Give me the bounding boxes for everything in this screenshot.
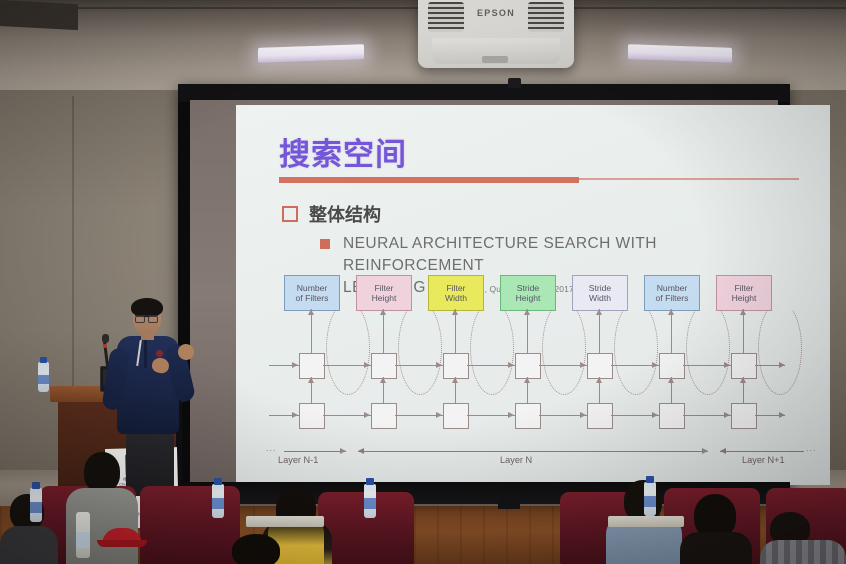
feedback-loop-arrow: [686, 301, 730, 395]
param-box-line2: Width: [445, 293, 467, 303]
ceiling-beam-left: [0, 0, 78, 30]
presenter-shirt-placket: [144, 338, 147, 368]
rnn-controller-diagram: Numberof FiltersFilterHeightFilterWidthS…: [262, 275, 810, 465]
microphone-indicator-led: [103, 344, 107, 348]
attendee-body: [760, 540, 846, 564]
bullet-level1: 整体结构: [282, 201, 381, 227]
presenter-glasses: [135, 315, 158, 321]
arrow-up-icon: [380, 309, 386, 315]
connector-line: [527, 309, 528, 353]
param-box: FilterHeight: [716, 275, 772, 311]
arrow-up-icon: [668, 309, 674, 315]
bottle-label: [30, 502, 42, 513]
arrow-up-icon: [740, 377, 746, 383]
param-box-line1: Filter: [374, 283, 393, 293]
list-item: [92, 528, 154, 564]
rnn-cell: [587, 353, 613, 379]
rnn-cell: [371, 353, 397, 379]
param-box-line1: Filter: [734, 283, 753, 293]
layer-label: Layer N: [500, 455, 532, 465]
connector-line: [455, 309, 456, 353]
connector-line: [743, 309, 744, 353]
param-box-line2: Width: [589, 293, 611, 303]
arrow-up-icon: [524, 377, 530, 383]
attendee-red-cap: [102, 528, 142, 547]
title-accent-bar: [279, 177, 579, 183]
arrow-up-icon: [740, 309, 746, 315]
arrow-up-icon: [308, 309, 314, 315]
arrow-up-icon: [596, 377, 602, 383]
bottle-cap: [646, 476, 654, 483]
param-box: StrideWidth: [572, 275, 628, 311]
rnn-cell: [443, 403, 469, 429]
paper-title-line1: NEURAL ARCHITECTURE SEARCH WITH REINFORC…: [343, 235, 657, 274]
attendee-body: [0, 526, 58, 564]
arrow-right-icon: [508, 412, 514, 418]
param-box-line1: Number: [657, 283, 688, 293]
layer-span-line: [720, 451, 804, 452]
arrow-up-icon: [596, 309, 602, 315]
layer-span-line: [358, 451, 708, 452]
rnn-cell: [731, 403, 757, 429]
rnn-cell: [659, 353, 685, 379]
feedback-loop-arrow: [542, 301, 586, 395]
arrow-right-icon: [779, 412, 785, 418]
rnn-cell: [443, 353, 469, 379]
connector-line: [311, 309, 312, 353]
desk-tray: [246, 516, 324, 527]
param-box-line2: of Filters: [656, 293, 689, 303]
layer-label: Layer N-1: [278, 455, 318, 465]
arrow-up-icon: [308, 377, 314, 383]
rnn-cell: [515, 353, 541, 379]
water-bottle: [644, 482, 656, 516]
hollow-square-bullet-icon: [282, 206, 298, 222]
bottle-cap: [366, 478, 374, 485]
param-box-line2: Height: [732, 293, 757, 303]
param-box-line1: Stride: [589, 283, 611, 293]
connector-line: [383, 309, 384, 353]
arrow-right-icon: [652, 412, 658, 418]
feedback-loop-arrow: [326, 301, 370, 395]
ceiling-projector: EPSON: [418, 0, 574, 68]
bottle-label: [364, 498, 376, 509]
projector-lens: [482, 56, 508, 63]
bottle-label: [212, 498, 224, 509]
param-box: StrideHeight: [500, 275, 556, 311]
attendee-body: [680, 532, 752, 564]
microphone-head: [102, 334, 109, 343]
feedback-loop-arrow: [398, 301, 442, 395]
param-box-line1: Filter: [446, 283, 465, 293]
chair: [140, 486, 240, 564]
desk-tray: [608, 516, 684, 527]
arrow-right-icon: [580, 412, 586, 418]
arrow-left-icon: [358, 448, 364, 454]
param-box: FilterWidth: [428, 275, 484, 311]
feedback-loop-arrow: [758, 301, 802, 395]
param-box-line2: Height: [516, 293, 541, 303]
arrow-up-icon: [452, 377, 458, 383]
list-item: [676, 494, 754, 564]
rnn-cell: [587, 403, 613, 429]
arrow-right-icon: [364, 412, 370, 418]
arrow-up-icon: [452, 309, 458, 315]
arrow-up-icon: [380, 377, 386, 383]
arrow-up-icon: [524, 309, 530, 315]
feedback-loop-arrow: [470, 301, 514, 395]
projector-brand-label: EPSON: [418, 8, 574, 18]
arrow-up-icon: [668, 377, 674, 383]
rnn-cell: [731, 353, 757, 379]
rnn-cell: [659, 403, 685, 429]
water-bottle: [212, 484, 224, 518]
param-box: Numberof Filters: [644, 275, 700, 311]
rnn-cell: [299, 403, 325, 429]
list-item: [760, 512, 840, 564]
attendee-head: [84, 452, 120, 492]
param-box-line1: Stride: [517, 283, 539, 293]
param-box: FilterHeight: [356, 275, 412, 311]
layer-label: Layer N+1: [742, 455, 785, 465]
list-item: [0, 494, 58, 564]
thermos-label: [76, 532, 90, 548]
arrow-right-icon: [724, 412, 730, 418]
arrow-right-icon: [436, 412, 442, 418]
param-box-line2: Height: [372, 293, 397, 303]
wall-panel-seam: [72, 96, 74, 436]
connector-line: [599, 309, 600, 353]
bottle-label: [644, 496, 656, 507]
lecture-hall-photo: EPSON 搜索空间 整体结构 NEURAL ARCHITECTURE SEAR…: [0, 0, 846, 564]
bottle-cap: [32, 482, 40, 489]
param-box-line2: of Filters: [296, 293, 329, 303]
arrow-left-icon: [720, 448, 726, 454]
water-bottle: [364, 484, 376, 518]
arrow-right-icon: [292, 362, 298, 368]
arrow-right-icon: [292, 412, 298, 418]
screen-ceiling-bracket: [508, 78, 521, 88]
cap-brim: [97, 540, 147, 547]
ellipsis: ...: [806, 443, 817, 453]
podium-water-bottle: [38, 362, 49, 392]
connector-line: [671, 309, 672, 353]
screen-bottom-tab: [498, 498, 520, 509]
water-bottle: [30, 488, 42, 522]
slide-title: 搜索空间: [279, 129, 407, 174]
presenter-shirt-logo: [156, 350, 163, 357]
attendee-head: [232, 534, 280, 564]
param-box-line1: Number: [297, 283, 328, 293]
feedback-loop-arrow: [614, 301, 658, 395]
bullet-level1-label: 整体结构: [309, 201, 381, 227]
projected-slide: 搜索空间 整体结构 NEURAL ARCHITECTURE SEARCH WIT…: [236, 105, 830, 485]
thermos-flask: [76, 512, 90, 558]
rnn-cell: [515, 403, 541, 429]
bottle-cap: [40, 357, 47, 363]
arrow-right-icon: [340, 448, 346, 454]
param-box: Numberof Filters: [284, 275, 340, 311]
bottle-label: [38, 375, 49, 384]
title-accent-line: [579, 178, 799, 180]
rnn-cell: [299, 353, 325, 379]
layer-span-line: [284, 451, 346, 452]
arrow-right-icon: [702, 448, 708, 454]
rnn-cell: [371, 403, 397, 429]
bottle-cap: [214, 478, 222, 485]
list-item: [226, 534, 288, 564]
filled-square-bullet-icon: [320, 239, 330, 249]
ellipsis: ...: [266, 443, 277, 453]
